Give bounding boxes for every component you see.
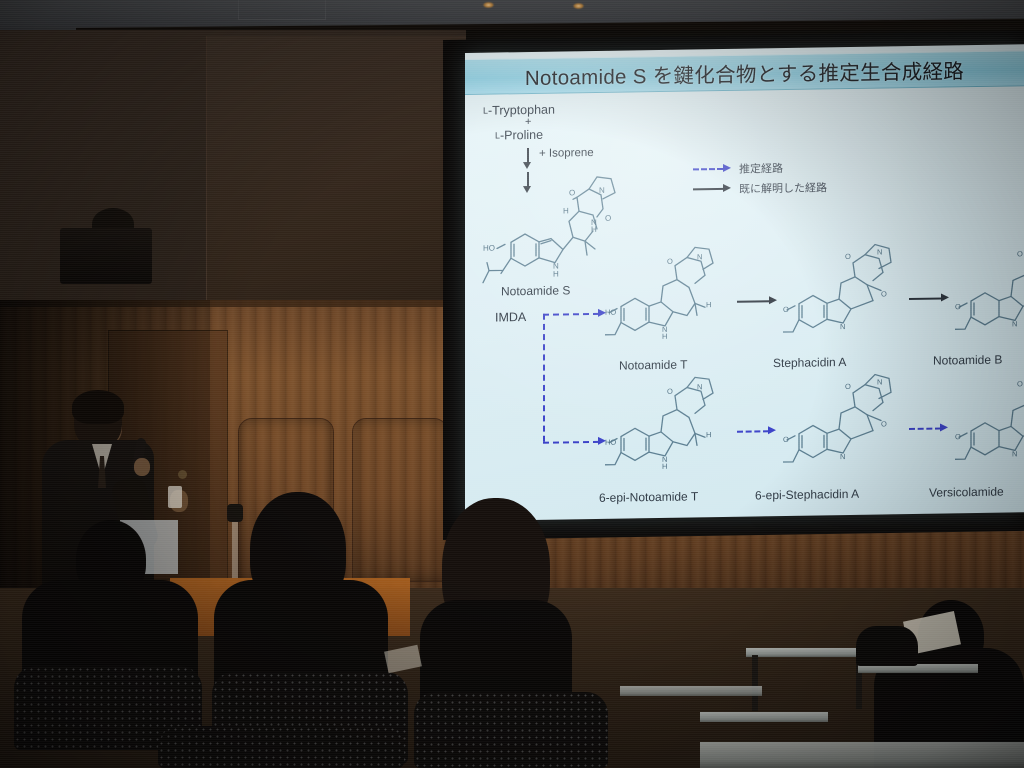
atom-label-n: N xyxy=(697,252,702,261)
ceiling-light-icon xyxy=(573,3,584,9)
atom-label-o2: O xyxy=(605,214,611,223)
desk xyxy=(700,712,828,722)
legend-label-elucidated: 既に解明した経路 xyxy=(739,179,827,196)
compound-label-stephacidin-a: Stephacidin A xyxy=(773,355,846,370)
desk-leg xyxy=(752,655,758,711)
pathway-top-arrow-2 xyxy=(909,297,943,299)
structure-versicolamide: O N O N O xyxy=(955,370,1024,476)
atom-label-o: O xyxy=(667,387,673,396)
compound-label-6-epi-stephacidin-a: 6-epi-Stephacidin A xyxy=(755,487,859,503)
desk xyxy=(700,742,1024,768)
structure-notoamide-s: HO N H O N O N H H xyxy=(481,169,621,293)
lecture-room-scene: Notoamide S を鍵化合物とする推定生合成経路 L-Tryptophan… xyxy=(0,0,1024,768)
reaction-arrow-head-icon xyxy=(523,162,531,169)
atom-label-o: O xyxy=(667,257,673,266)
atom-label-n: N xyxy=(697,382,702,391)
precursor-name: -Tryptophan xyxy=(488,103,555,118)
atom-label-o2: O xyxy=(845,382,851,391)
atom-label-o: O xyxy=(783,435,789,444)
chair-back[interactable] xyxy=(158,726,404,768)
atom-label-h: H xyxy=(662,462,667,471)
presentation-remote[interactable] xyxy=(168,486,182,508)
atom-label-o: O xyxy=(783,305,789,314)
chair[interactable] xyxy=(856,626,918,666)
ceiling-panel xyxy=(238,0,326,20)
atom-label-h: H xyxy=(553,270,559,279)
atom-label-o3: O xyxy=(881,289,887,298)
atom-label-n: N xyxy=(599,186,605,195)
structure-6-epi-stephacidin-a: O N O N O xyxy=(783,372,901,478)
pathway-bottom-arrow-2-head-icon xyxy=(940,423,948,431)
precursor-tryptophan: L-Tryptophan xyxy=(483,103,555,118)
legend-solid-line xyxy=(693,188,725,190)
imda-branch-vertical xyxy=(543,314,545,442)
structure-notoamide-b: O N O N O xyxy=(955,240,1024,346)
atom-label-o: O xyxy=(955,432,961,441)
pathway-top-arrow-1 xyxy=(737,300,771,302)
presenter-hair xyxy=(72,390,124,424)
legend-dashed-arrowhead-icon xyxy=(723,164,731,172)
pathway-bottom-arrow-2 xyxy=(909,428,941,431)
atom-label-o2: O xyxy=(845,252,851,261)
atom-label-h: H xyxy=(662,332,667,341)
atom-label-n: N xyxy=(877,247,882,256)
atom-label-nh: N xyxy=(840,452,845,461)
atom-label-h2: H xyxy=(591,225,597,234)
pathway-bottom-arrow-1 xyxy=(737,430,769,433)
atom-label-o: O xyxy=(569,188,575,197)
atom-label-ho: HO xyxy=(605,308,616,317)
atom-label-o2: O xyxy=(1017,249,1023,258)
atom-label-nh: N xyxy=(840,322,845,331)
desk xyxy=(620,686,762,696)
compound-label-notoamide-s: Notoamide S xyxy=(501,283,570,298)
wall-panel-decoration xyxy=(352,418,448,582)
atom-label-nh: N xyxy=(1012,319,1017,328)
atom-label-n: N xyxy=(877,377,882,386)
reaction-condition-isoprene: + Isoprene xyxy=(539,147,594,160)
structure-stephacidin-a: O N O N O xyxy=(783,242,901,348)
imda-branch-top xyxy=(543,313,599,316)
atom-label-h2: H xyxy=(706,430,711,439)
atom-label-h2: H xyxy=(706,300,711,309)
presenter-hand xyxy=(134,458,150,476)
microphone-stand xyxy=(232,516,238,578)
atom-label-h3: H xyxy=(563,206,569,215)
precursor-proline: L-Proline xyxy=(495,128,543,143)
atom-label-o: O xyxy=(955,302,961,311)
precursor-plus: + xyxy=(525,116,531,128)
pathway-top-arrow-1-head-icon xyxy=(769,296,777,304)
reaction-label-imda: IMDA xyxy=(495,310,526,324)
compound-label-6-epi-notoamide-t: 6-epi-Notoamide T xyxy=(599,489,698,505)
projected-slide: Notoamide S を鍵化合物とする推定生合成経路 L-Tryptophan… xyxy=(465,44,1024,521)
pathway-bottom-arrow-1-head-icon xyxy=(768,426,776,434)
pathway-top-arrow-2-head-icon xyxy=(941,293,949,301)
wall-speaker xyxy=(60,228,152,284)
atom-label-o3: O xyxy=(881,419,887,428)
structure-6-epi-notoamide-t: HO N H O N H xyxy=(605,375,723,481)
structure-notoamide-t: HO N H O N H xyxy=(605,245,723,351)
desk xyxy=(746,648,868,657)
compound-label-notoamide-t: Notoamide T xyxy=(619,358,687,373)
legend-label-presumed: 推定経路 xyxy=(739,160,783,177)
legend-dashed-line xyxy=(693,168,723,170)
slide-title: Notoamide S を鍵化合物とする推定生合成経路 xyxy=(465,50,1024,95)
atom-label-ho: HO xyxy=(483,244,495,253)
legend-solid-arrowhead-icon xyxy=(723,184,731,192)
microphone-stand-head-icon xyxy=(227,504,243,522)
compound-label-notoamide-b: Notoamide B xyxy=(933,353,1002,368)
imda-branch-bottom xyxy=(543,441,599,444)
atom-label-ho: HO xyxy=(605,438,616,447)
ceiling-light-icon xyxy=(483,2,494,8)
compound-label-versicolamide: Versicolamide xyxy=(929,485,1004,500)
atom-label-o2: O xyxy=(1017,379,1023,388)
atom-label-nh: N xyxy=(1012,449,1017,458)
chair-back[interactable] xyxy=(414,692,608,768)
precursor-name: -Proline xyxy=(500,128,543,143)
